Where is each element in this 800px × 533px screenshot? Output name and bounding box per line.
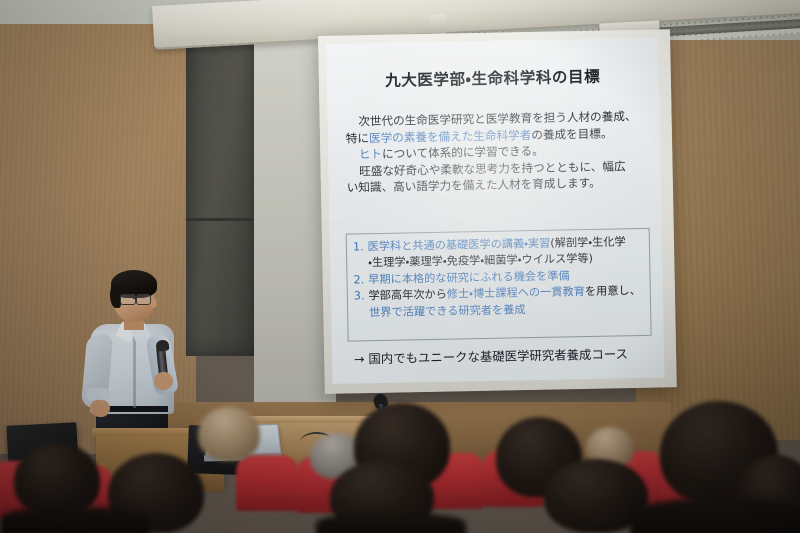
slide-body: 次世代の生命医学研究と医学教育を担う人材の養成、 特に医学の素養を備えた生命科学… (345, 108, 647, 197)
list-item-number: 2. (353, 272, 364, 289)
audience-shoulder (630, 499, 800, 533)
list-item-3-highlight: 修士・博士課程への一貫教育 (447, 285, 585, 301)
list-item-1-main: 医学科と共通の基礎医学の講義・実習 (367, 237, 550, 254)
audience-shoulder (316, 513, 466, 533)
paragraph-3-tail: について体系的に学習できる。 (382, 144, 544, 161)
lecture-hall-photo: 九大医学部・生命科学科の目標 次世代の生命医学研究と医学教育を担う人材の養成、 … (0, 0, 800, 533)
projection-screen: 九大医学部・生命科学科の目標 次世代の生命医学研究と医学教育を担う人材の養成、 … (326, 38, 664, 384)
list-item-3-lead: 学部高年次から (368, 288, 447, 303)
chalkboard-seam (186, 218, 258, 221)
audience (0, 395, 800, 533)
paragraph-2-lead: 特に (346, 131, 369, 145)
list-item-1-paren: (解剖学・生化学 (550, 235, 626, 249)
slide-title: 九大医学部・生命科学科の目標 (326, 64, 658, 92)
list-item-3-tail: を用意し、 (585, 284, 641, 298)
glasses-lens-right-icon (136, 294, 151, 305)
numbered-list-box: 1. 医学科と共通の基礎医学の講義・実習(解剖学・生化学 ・生理学・薬理学・免疫… (346, 228, 652, 342)
list-item-number: 1. (353, 239, 364, 256)
glasses-lens-left-icon (120, 294, 136, 305)
paragraph-2-highlight: 医学の素養を備えた生命科学者 (369, 128, 532, 145)
audience-shoulder (0, 507, 150, 533)
slide-conclusion: → 国内でもユニークな基礎医学研究者養成コース (354, 344, 654, 368)
handheld-microphone-head-icon (155, 339, 169, 351)
paragraph-2-tail: の養成を目標。 (531, 126, 612, 142)
audience-head (14, 443, 100, 517)
audience-head (198, 407, 260, 461)
list-item-number: 3. (354, 289, 365, 306)
paragraph-3-highlight: ヒト (359, 147, 382, 161)
presenter-ear (150, 298, 157, 308)
glasses-bridge (133, 297, 137, 299)
seat (236, 455, 298, 511)
slide: 九大医学部・生命科学科の目標 次世代の生命医学研究と医学教育を担う人材の養成、 … (326, 38, 664, 384)
